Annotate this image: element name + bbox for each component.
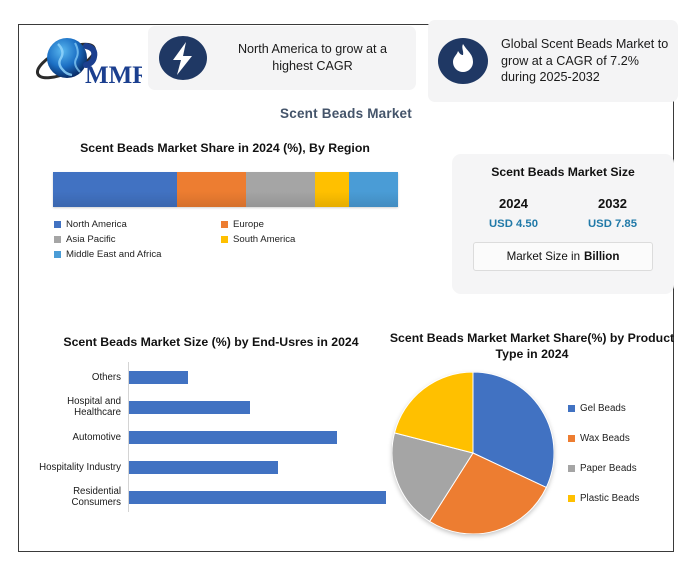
legend-item: Asia Pacific — [54, 234, 217, 245]
bar-fill — [129, 461, 278, 474]
region-segment-north-america — [53, 172, 177, 207]
bar-row: Others — [36, 362, 386, 392]
bar-track — [128, 452, 386, 482]
legend-label: Wax Beads — [580, 433, 630, 444]
bar-label: Hospitality Industry — [36, 462, 128, 473]
bar-row: Automotive — [36, 422, 386, 452]
value-end: USD 7.85 — [571, 218, 655, 230]
bar-fill — [129, 401, 250, 414]
bar-label: Others — [36, 372, 128, 383]
chart-title-end-use: Scent Beads Market Size (%) by End-Usres… — [42, 334, 380, 350]
bar-fill — [129, 491, 386, 504]
legend-swatch — [568, 465, 575, 472]
bar-track — [128, 482, 386, 512]
legend-label: Gel Beads — [580, 403, 626, 414]
legend-item: Plastic Beads — [568, 493, 639, 504]
bar-label: Residential Consumers — [36, 486, 128, 509]
legend-label: North America — [66, 219, 127, 230]
badge-text-global-cagr: Global Scent Beads Market to grow at a C… — [501, 36, 670, 86]
market-size-card: Scent Beads Market Size 2024 2032 USD 4.… — [452, 154, 674, 294]
infographic-root: MMR North America to grow at a highest C… — [0, 0, 692, 578]
bar-row: Hospital and Healthcare — [36, 392, 386, 422]
badge-text-region-cagr: North America to grow at a highest CAGR — [219, 41, 406, 74]
chart-end-use: Scent Beads Market Size (%) by End-Usres… — [36, 334, 386, 512]
bar-label: Hospital and Healthcare — [36, 396, 128, 419]
bar-label: Automotive — [36, 432, 128, 443]
legend-label: Asia Pacific — [66, 234, 116, 245]
lightning-bolt-icon — [156, 33, 210, 83]
flame-icon — [434, 34, 492, 88]
legend-label: South America — [233, 234, 295, 245]
bar-fill — [129, 431, 337, 444]
chart-title-region: Scent Beads Market Share in 2024 (%), By… — [40, 140, 410, 156]
year-end: 2032 — [571, 196, 655, 211]
bar-row: Residential Consumers — [36, 482, 386, 512]
legend-swatch — [54, 236, 61, 243]
product-type-legend: Gel Beads Wax Beads Paper Beads Plastic … — [568, 403, 639, 504]
legend-swatch — [221, 236, 228, 243]
chart-title-product-type: Scent Beads Market Market Share(%) by Pr… — [386, 330, 678, 362]
market-size-values: USD 4.50 USD 7.85 — [464, 218, 662, 230]
region-segment-middle-east-africa — [349, 172, 397, 207]
year-start: 2024 — [472, 196, 556, 211]
legend-swatch — [221, 221, 228, 228]
highlight-badge-cagr-region: North America to grow at a highest CAGR — [148, 26, 416, 90]
legend-item: Europe — [221, 219, 384, 230]
legend-item: North America — [54, 219, 217, 230]
bar-track — [128, 392, 386, 422]
legend-swatch — [568, 495, 575, 502]
bar-track — [128, 422, 386, 452]
region-stacked-bar — [53, 172, 398, 207]
value-start: USD 4.50 — [472, 218, 556, 230]
chart-product-type: Scent Beads Market Market Share(%) by Pr… — [386, 330, 678, 534]
legend-swatch — [568, 405, 575, 412]
region-segment-south-america — [315, 172, 350, 207]
legend-item: Gel Beads — [568, 403, 639, 414]
legend-label: Europe — [233, 219, 264, 230]
legend-swatch — [568, 435, 575, 442]
market-size-unit: Market Size in Billion — [473, 242, 653, 271]
legend-label: Paper Beads — [580, 463, 637, 474]
legend-label: Middle East and Africa — [66, 249, 161, 260]
highlight-badge-global-cagr: Global Scent Beads Market to grow at a C… — [428, 20, 678, 102]
bar-row: Hospitality Industry — [36, 452, 386, 482]
legend-item: Wax Beads — [568, 433, 639, 444]
legend-item: Middle East and Africa — [54, 249, 217, 260]
bar-fill — [129, 371, 188, 384]
bar-track — [128, 362, 386, 392]
page-title: Scent Beads Market — [0, 106, 692, 121]
globe-orbit-icon: MMR — [30, 30, 142, 92]
chart-region-share: Scent Beads Market Share in 2024 (%), By… — [40, 140, 410, 260]
legend-swatch — [54, 251, 61, 258]
end-use-bars: Others Hospital and Healthcare Automotiv… — [36, 362, 386, 512]
mmr-logo: MMR — [30, 30, 142, 92]
market-size-years: 2024 2032 — [464, 196, 662, 211]
region-segment-europe — [177, 172, 246, 207]
legend-item: South America — [221, 234, 384, 245]
legend-label: Plastic Beads — [580, 493, 639, 504]
unit-bold: Billion — [584, 250, 619, 263]
legend-swatch — [54, 221, 61, 228]
region-legend: North America Europe Asia Pacific South … — [54, 219, 384, 260]
unit-prefix: Market Size in — [507, 250, 580, 263]
mmr-logo-text: MMR — [85, 62, 142, 89]
product-type-pie — [392, 372, 554, 534]
legend-item: Paper Beads — [568, 463, 639, 474]
market-size-title: Scent Beads Market Size — [464, 164, 662, 180]
region-segment-asia-pacific — [246, 172, 315, 207]
